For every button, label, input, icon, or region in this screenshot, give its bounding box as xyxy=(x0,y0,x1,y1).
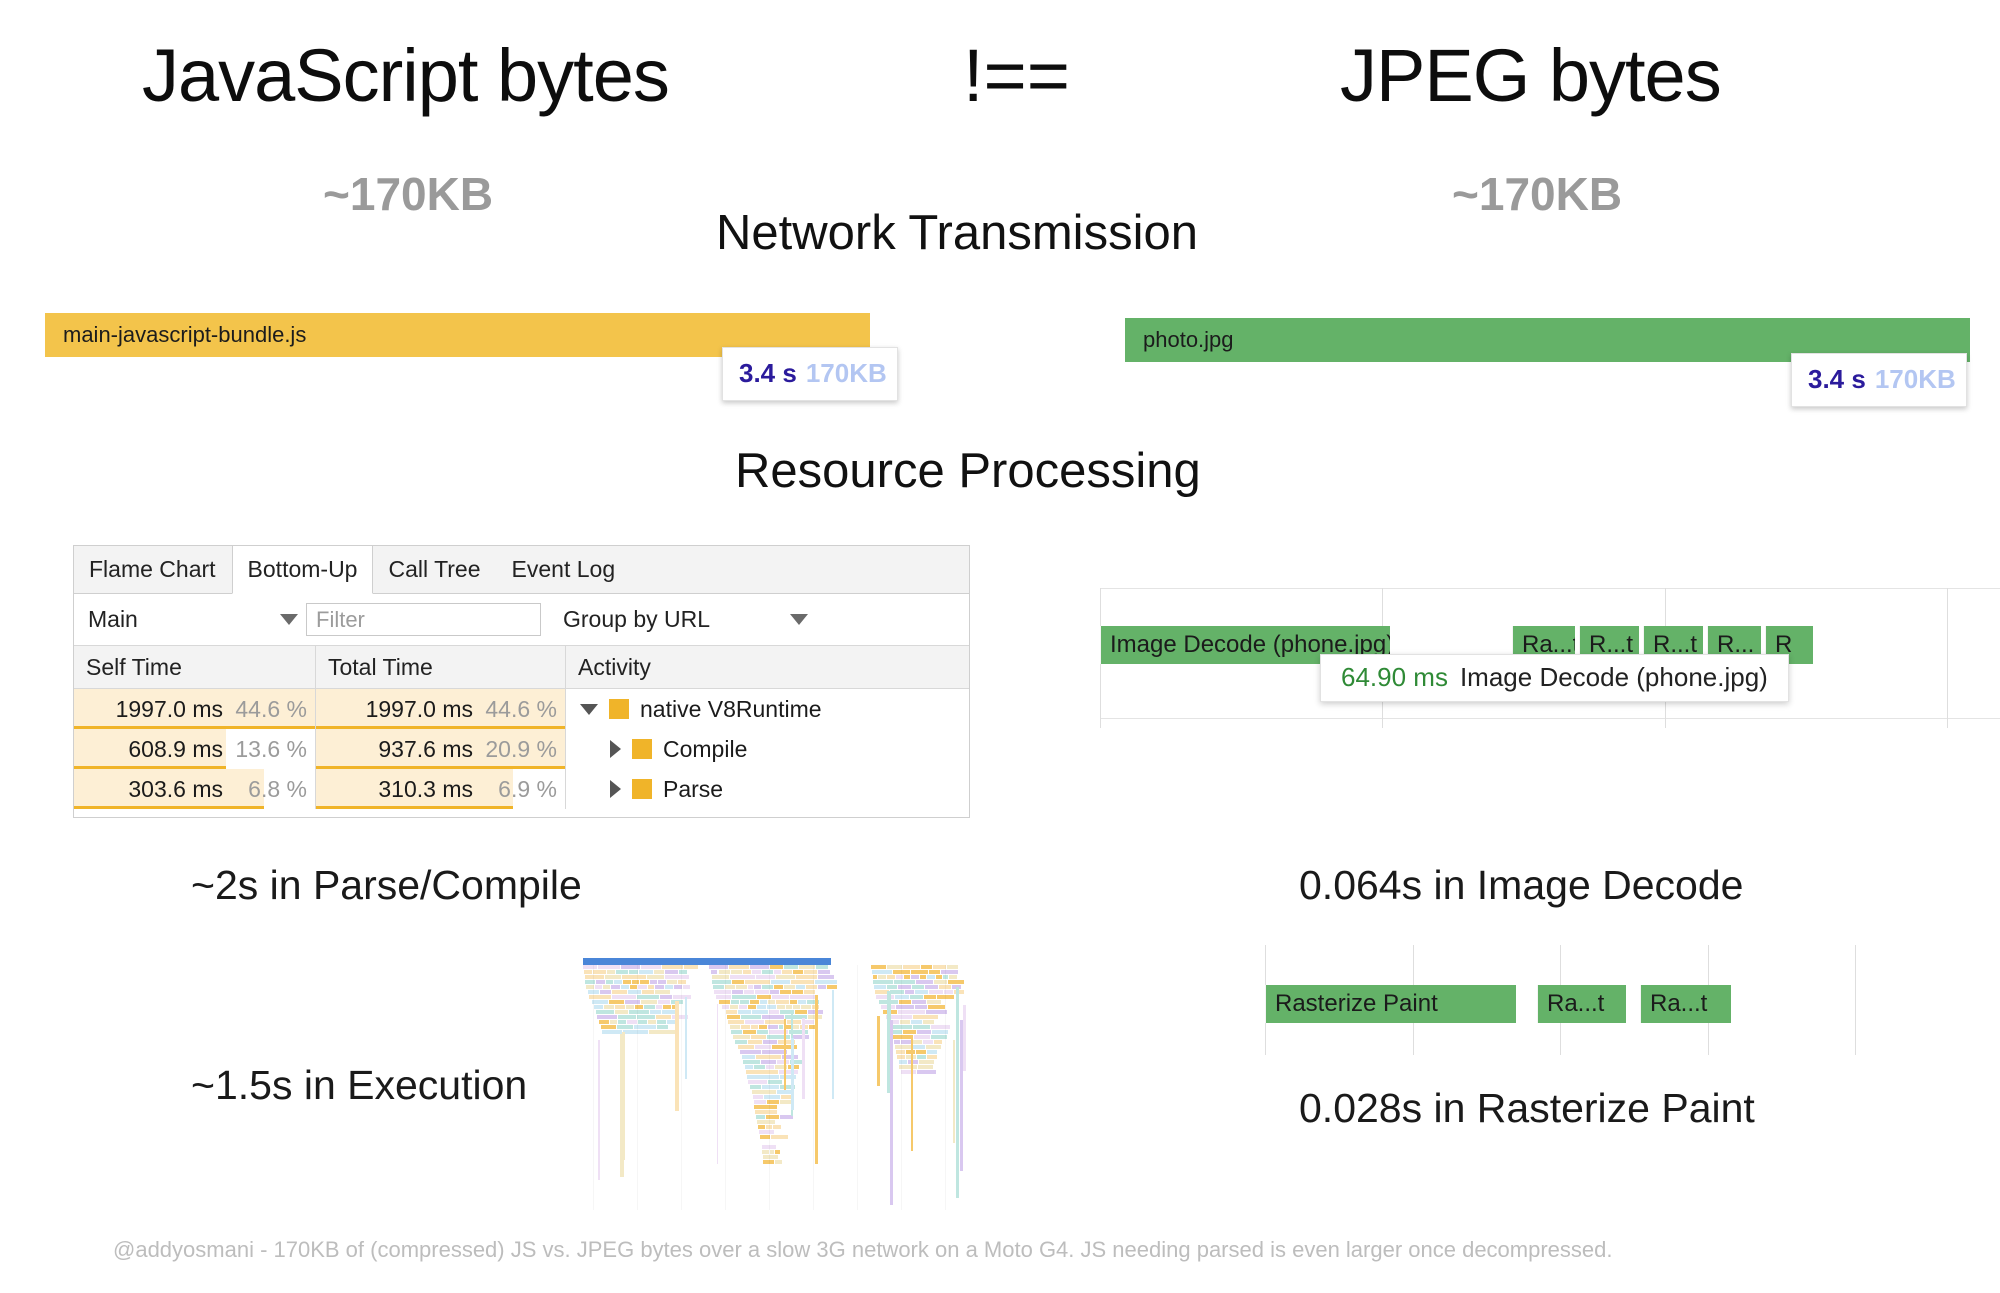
flame-chart-frame xyxy=(637,1015,655,1019)
group-by-select[interactable]: Group by URL xyxy=(563,606,808,633)
flame-chart-frame xyxy=(656,1015,671,1019)
flame-chart-frame xyxy=(735,1040,746,1044)
flame-chart-frame xyxy=(784,965,798,969)
flame-chart-frame xyxy=(616,970,628,974)
flame-chart-frame xyxy=(898,1010,925,1014)
flame-chart-frame xyxy=(748,1040,762,1044)
flame-chart-frame xyxy=(755,1110,776,1114)
flame-chart-frame xyxy=(728,1020,744,1024)
flame-chart-frame xyxy=(716,995,731,999)
chevron-right-icon[interactable] xyxy=(610,780,621,798)
flame-chart-frame xyxy=(795,1010,807,1014)
flame-chart-frame xyxy=(784,985,795,989)
flame-chart-frame xyxy=(903,965,920,969)
activity-color-swatch xyxy=(632,779,652,799)
network-bar-jpeg-filename: photo.jpg xyxy=(1143,327,1234,353)
flame-chart-frame xyxy=(773,1125,781,1129)
cell-percent-value: 13.6 % xyxy=(233,736,307,763)
flame-chart-frame xyxy=(614,980,622,984)
flame-chart-frame xyxy=(743,1030,756,1034)
column-header-total-time[interactable]: Total Time xyxy=(316,646,566,688)
flame-chart-frame xyxy=(731,1030,741,1034)
cell-activity: Compile xyxy=(566,729,969,769)
flame-chart-frame xyxy=(890,990,904,994)
flame-chart-frame xyxy=(927,1000,940,1004)
flame-chart-frame xyxy=(904,975,910,979)
flame-chart-frame xyxy=(754,1100,767,1104)
flame-chart-frame xyxy=(604,1005,614,1009)
tooltip-size-value: 170KB xyxy=(1875,364,1956,395)
flame-chart-frame xyxy=(725,985,735,989)
cell-self-time: 608.9 ms13.6 % xyxy=(74,729,316,769)
cell-total-time: 310.3 ms6.9 % xyxy=(316,769,566,809)
flame-chart-frame xyxy=(762,1085,778,1089)
flame-chart-frame xyxy=(629,1010,649,1014)
column-header-activity[interactable]: Activity xyxy=(566,646,969,688)
flame-chart-frame xyxy=(637,965,638,1210)
flame-chart-frame xyxy=(606,980,614,984)
flame-chart-frame xyxy=(917,1055,926,1059)
flame-chart-frame xyxy=(925,985,937,989)
flame-chart-frame xyxy=(813,965,814,1210)
flame-chart-frame xyxy=(899,1060,907,1064)
flame-chart-frame xyxy=(776,1000,789,1004)
tooltip-time-value: 3.4 s xyxy=(739,358,797,389)
flame-chart-frame xyxy=(926,1010,946,1014)
flame-chart-frame xyxy=(611,985,621,989)
flame-chart-frame xyxy=(754,985,760,989)
flame-chart-frame xyxy=(752,970,762,974)
flame-chart-frame xyxy=(901,965,902,1210)
flame-chart-frame xyxy=(796,985,805,989)
flame-chart-frame xyxy=(649,1030,675,1034)
flame-chart-frame xyxy=(762,1150,768,1154)
activity-color-swatch xyxy=(609,699,629,719)
cell-activity: Parse xyxy=(566,769,969,809)
flame-chart-frame xyxy=(665,975,689,979)
flame-chart-frame xyxy=(650,980,657,984)
flame-chart-frame xyxy=(647,975,664,979)
flame-chart-frame xyxy=(650,1010,661,1014)
flame-chart-frame xyxy=(771,980,791,984)
footer-attribution-note: @addyosmani - 170KB of (compressed) JS v… xyxy=(113,1237,1613,1263)
timeline-block[interactable]: Rasterize Paint xyxy=(1265,985,1516,1023)
flame-chart-frame xyxy=(917,1070,936,1074)
flame-chart-frame xyxy=(745,1020,763,1024)
flame-chart-frame xyxy=(759,1025,767,1029)
flame-chart-frame xyxy=(711,970,718,974)
scope-select-value: Main xyxy=(88,606,138,633)
tab-event-log[interactable]: Event Log xyxy=(497,546,632,593)
flame-chart-frame xyxy=(743,970,750,974)
flame-chart-frame xyxy=(757,1005,765,1009)
flame-chart-frame xyxy=(818,985,826,989)
timeline-block[interactable]: Ra...t xyxy=(1640,985,1731,1023)
flame-chart-frame xyxy=(924,995,936,999)
flame-chart-frame xyxy=(771,1135,788,1139)
flame-chart-frame xyxy=(663,1005,671,1009)
tab-label: Flame Chart xyxy=(89,556,216,583)
flame-chart-frame xyxy=(802,1018,804,1099)
flame-chart-frame xyxy=(593,965,594,1210)
flame-chart-frame xyxy=(753,1095,763,1099)
flame-chart-frame xyxy=(627,1020,637,1024)
flame-chart-frame xyxy=(926,1045,941,1049)
cell-percent-value: 20.9 % xyxy=(483,736,557,763)
flame-chart-frame xyxy=(815,980,838,984)
flame-chart-frame xyxy=(662,1010,676,1014)
activity-label: native V8Runtime xyxy=(640,696,822,723)
flame-chart-frame xyxy=(741,1025,750,1029)
flame-chart-frame xyxy=(644,1005,655,1009)
flame-chart-frame xyxy=(766,1115,779,1119)
devtools-toolbar: Main Filter Group by URL xyxy=(74,594,969,646)
table-row[interactable]: 608.9 ms13.6 %937.6 ms20.9 %Compile xyxy=(74,729,969,769)
flame-chart-frame xyxy=(609,1000,625,1004)
flame-chart-frame xyxy=(617,1025,633,1029)
flame-chart-frame xyxy=(623,980,631,984)
flame-chart-frame xyxy=(733,1035,750,1039)
chevron-down-icon xyxy=(790,614,808,625)
filter-input[interactable]: Filter xyxy=(306,603,541,636)
flame-chart-frame xyxy=(895,1045,911,1049)
flame-chart-frame xyxy=(936,975,942,979)
tab-bottom-up[interactable]: Bottom-Up xyxy=(232,546,374,594)
flame-chart-frame xyxy=(756,1115,765,1119)
flame-chart-frame xyxy=(757,1120,775,1124)
flame-chart-frame xyxy=(615,1010,628,1014)
flame-chart-frame xyxy=(757,1030,768,1034)
flame-chart-frame xyxy=(732,990,743,994)
tab-flame-chart[interactable]: Flame Chart xyxy=(74,546,232,593)
flame-chart-frame xyxy=(585,975,604,979)
flame-chart-frame xyxy=(927,975,935,979)
flame-chart-canvas xyxy=(583,958,975,1210)
flame-chart-frame xyxy=(827,985,837,989)
cell-duration-value: 1997.0 ms xyxy=(116,696,223,723)
flame-chart-frame xyxy=(657,1020,666,1024)
flame-chart-frame xyxy=(911,975,919,979)
flame-chart-frame xyxy=(923,1020,933,1024)
flame-chart-frame xyxy=(786,1005,792,1009)
cell-percent-value: 6.9 % xyxy=(483,776,557,803)
flame-chart-frame xyxy=(745,1065,753,1069)
flame-chart-frame xyxy=(739,1005,747,1009)
flame-chart-frame xyxy=(642,990,655,994)
flame-chart-frame xyxy=(887,975,895,979)
flame-chart-frame xyxy=(583,958,831,965)
flame-chart-frame xyxy=(592,1000,607,1004)
flame-chart-frame xyxy=(910,995,923,999)
flame-chart-frame xyxy=(912,985,924,989)
flame-chart-frame xyxy=(603,985,609,989)
column-header-self-time[interactable]: Self Time xyxy=(74,646,316,688)
flame-chart-frame xyxy=(660,995,672,999)
flame-chart-frame xyxy=(876,995,894,999)
flame-chart-frame xyxy=(730,975,755,979)
flame-chart-frame xyxy=(746,1070,778,1074)
flame-chart-frame xyxy=(621,985,628,989)
flame-chart-frame xyxy=(685,997,687,1079)
section-title-resource-processing: Resource Processing xyxy=(735,443,1201,499)
flame-chart-frame xyxy=(903,1030,916,1034)
network-tooltip-javascript: 3.4 s 170KB xyxy=(722,347,898,401)
flame-chart-frame xyxy=(595,985,602,989)
flame-chart-frame xyxy=(725,965,726,1210)
flame-chart-frame xyxy=(738,1045,754,1049)
flame-chart-frame xyxy=(599,1020,609,1024)
timeline-rasterize-paint: Rasterize PaintRa...tRa...t xyxy=(1265,945,2000,1055)
activity-color-swatch xyxy=(632,739,652,759)
js-size-label: ~170KB xyxy=(323,167,493,221)
flame-chart-frame xyxy=(683,985,691,989)
flame-chart-frame xyxy=(714,990,731,994)
tooltip-size-value: 170KB xyxy=(806,358,887,389)
flame-chart-frame xyxy=(615,1005,626,1009)
flame-chart-frame xyxy=(779,1025,784,1029)
flame-chart-frame xyxy=(623,1030,648,1034)
flame-chart-frame xyxy=(857,965,858,1210)
annotation-rasterize-paint: 0.028s in Rasterize Paint xyxy=(1299,1085,1755,1132)
cell-self-time: 1997.0 ms44.6 % xyxy=(74,689,316,729)
tooltip-activity-name: Image Decode (phone.jpg) xyxy=(1460,662,1768,693)
flame-chart-frame xyxy=(727,1015,740,1019)
tooltip-time-value: 3.4 s xyxy=(1808,364,1866,395)
flame-chart-frame xyxy=(593,970,606,974)
tab-call-tree[interactable]: Call Tree xyxy=(373,546,496,593)
flame-chart-frame xyxy=(745,980,770,984)
flame-chart-thumbnail[interactable] xyxy=(583,958,975,1210)
timeline-image-decode: Image Decode (phone.jpg)Ra...tR...tR...t… xyxy=(1100,588,2000,728)
flame-chart-frame xyxy=(763,1155,778,1159)
cell-duration-value: 608.9 ms xyxy=(128,736,223,763)
flame-chart-frame xyxy=(684,965,699,969)
flame-chart-frame xyxy=(738,1010,751,1014)
flame-chart-frame xyxy=(770,965,783,969)
flame-chart-frame xyxy=(641,965,662,969)
flame-chart-frame xyxy=(791,980,813,984)
tooltip-duration: 64.90 ms xyxy=(1341,662,1448,693)
flame-chart-frame xyxy=(673,995,691,999)
flame-chart-frame xyxy=(618,1020,626,1024)
flame-chart-frame xyxy=(887,985,897,989)
flame-chart-frame xyxy=(732,995,756,999)
annotation-image-decode: 0.064s in Image Decode xyxy=(1299,862,1743,909)
flame-chart-frame xyxy=(890,1020,893,1205)
flame-chart-frame xyxy=(732,980,745,984)
flame-chart-frame xyxy=(748,1080,767,1084)
flame-chart-frame xyxy=(736,985,747,989)
cell-percent-value: 44.6 % xyxy=(233,696,307,723)
flame-chart-frame xyxy=(762,1015,784,1019)
flame-chart-frame xyxy=(801,1005,811,1009)
flame-chart-frame xyxy=(894,1040,900,1044)
tab-label: Bottom-Up xyxy=(248,556,358,583)
flame-chart-frame xyxy=(762,985,774,989)
flame-chart-frame xyxy=(744,990,754,994)
flame-chart-frame xyxy=(905,990,914,994)
flame-chart-frame xyxy=(712,980,731,984)
flame-chart-frame xyxy=(877,1016,879,1085)
flame-chart-frame xyxy=(878,975,885,979)
flame-chart-frame xyxy=(602,1030,621,1034)
timeline-block[interactable]: Ra...t xyxy=(1537,985,1626,1023)
flame-chart-frame xyxy=(960,1020,963,1171)
flame-chart-frame xyxy=(832,990,834,1099)
flame-chart-frame xyxy=(787,1020,801,1024)
flame-chart-frame xyxy=(758,1125,764,1129)
activity-label: Parse xyxy=(663,776,723,803)
flame-chart-frame xyxy=(679,970,687,974)
flame-chart-frame xyxy=(618,1015,635,1019)
flame-chart-frame xyxy=(919,1060,934,1064)
annotation-js-parse-compile: ~2s in Parse/Compile xyxy=(191,862,582,909)
flame-chart-frame xyxy=(731,1000,739,1004)
flame-chart-frame xyxy=(751,1025,758,1029)
flame-chart-frame xyxy=(792,990,802,994)
flame-chart-frame xyxy=(769,1010,778,1014)
flame-chart-frame xyxy=(768,1080,782,1084)
flame-chart-frame xyxy=(726,1010,738,1014)
flame-chart-frame xyxy=(793,1005,800,1009)
jpeg-size-label: ~170KB xyxy=(1452,167,1622,221)
flame-chart-frame xyxy=(610,1020,616,1024)
cell-duration-value: 937.6 ms xyxy=(378,736,473,763)
table-row[interactable]: 1997.0 ms44.6 %1997.0 ms44.6 %native V8R… xyxy=(74,689,969,729)
flame-chart-frame xyxy=(947,965,958,969)
flame-chart-frame xyxy=(912,1045,925,1049)
devtools-tab-bar: Flame Chart Bottom-Up Call Tree Event Lo… xyxy=(74,546,969,594)
flame-chart-frame xyxy=(762,970,773,974)
flame-chart-frame xyxy=(747,1075,778,1079)
flame-chart-frame xyxy=(956,987,959,1198)
flame-chart-frame xyxy=(775,1160,782,1164)
table-row[interactable]: 303.6 ms6.8 %310.3 ms6.9 %Parse xyxy=(74,769,969,809)
flame-chart-frame xyxy=(638,1020,647,1024)
flame-chart-frame xyxy=(750,1000,759,1004)
flame-chart-frame xyxy=(612,995,636,999)
chevron-down-icon[interactable] xyxy=(580,704,598,715)
flame-chart-frame xyxy=(742,1055,755,1059)
flame-chart-frame xyxy=(941,970,958,974)
chevron-right-icon[interactable] xyxy=(610,740,621,758)
tab-label: Event Log xyxy=(512,556,616,583)
flame-chart-frame xyxy=(607,970,615,974)
flame-chart-frame xyxy=(730,1005,738,1009)
devtools-performance-panel: Flame Chart Bottom-Up Call Tree Event Lo… xyxy=(73,545,970,818)
network-tooltip-jpeg: 3.4 s 170KB xyxy=(1791,353,1967,407)
flame-chart-frame xyxy=(657,1025,669,1029)
flame-chart-frame xyxy=(598,1040,600,1180)
flame-chart-frame xyxy=(748,1005,756,1009)
cell-self-time: 303.6 ms6.8 % xyxy=(74,769,316,809)
flame-chart-frame xyxy=(929,970,940,974)
flame-chart-frame xyxy=(654,970,664,974)
cell-total-time: 1997.0 ms44.6 % xyxy=(316,689,566,729)
flame-chart-frame xyxy=(804,970,817,974)
flame-chart-frame xyxy=(896,1005,914,1009)
flame-chart-frame xyxy=(750,965,769,969)
cell-duration-value: 310.3 ms xyxy=(378,776,473,803)
flame-chart-frame xyxy=(793,970,802,974)
flame-chart-frame xyxy=(784,1019,787,1090)
flame-chart-frame xyxy=(635,1005,643,1009)
flame-chart-frame xyxy=(750,1085,761,1089)
flame-chart-frame xyxy=(953,1040,955,1143)
flame-chart-frame xyxy=(913,1015,938,1019)
flame-chart-frame xyxy=(640,980,649,984)
section-title-network-transmission: Network Transmission xyxy=(716,205,1198,261)
flame-chart-frame xyxy=(620,1034,624,1176)
flame-chart-frame xyxy=(648,985,655,989)
flame-chart-frame xyxy=(712,975,730,979)
flame-chart-frame xyxy=(790,1000,798,1004)
flame-chart-frame xyxy=(934,1040,942,1044)
flame-chart-frame xyxy=(945,965,946,1210)
flame-chart-frame xyxy=(777,1005,784,1009)
flame-chart-frame xyxy=(731,970,742,974)
flame-chart-frame xyxy=(873,975,878,979)
flame-chart-frame xyxy=(626,1005,634,1009)
flame-chart-frame xyxy=(755,990,769,994)
flame-chart-frame xyxy=(622,975,646,979)
annotation-js-execution: ~1.5s in Execution xyxy=(191,1062,527,1109)
flame-chart-frame xyxy=(806,985,816,989)
flame-chart-frame xyxy=(760,1000,767,1004)
network-bar-javascript-filename: main-javascript-bundle.js xyxy=(63,322,306,348)
flame-chart-frame xyxy=(818,975,834,979)
flame-chart-frame xyxy=(754,1065,765,1069)
flame-chart-frame xyxy=(963,1005,967,1071)
flame-chart-frame xyxy=(916,980,933,984)
flame-chart-frame xyxy=(874,985,886,989)
timeline-tooltip-image-decode: 64.90 ms Image Decode (phone.jpg) xyxy=(1320,654,1789,702)
timeline-bottom-rule xyxy=(1100,718,2000,719)
flame-chart-frame xyxy=(759,1130,774,1134)
flame-chart-frame xyxy=(713,985,723,989)
cell-duration-value: 303.6 ms xyxy=(128,776,223,803)
heading-javascript-bytes: JavaScript bytes xyxy=(142,33,669,118)
flame-chart-frame xyxy=(752,1010,768,1014)
scope-select[interactable]: Main xyxy=(88,606,298,633)
flame-chart-frame xyxy=(730,1025,740,1029)
flame-chart-frame xyxy=(658,980,666,984)
flame-chart-frame xyxy=(911,1039,913,1151)
flame-chart-frame xyxy=(598,965,620,969)
flame-chart-frame xyxy=(901,1070,916,1074)
flame-chart-frame xyxy=(833,958,836,965)
flame-chart-frame xyxy=(873,980,893,984)
flame-chart-frame xyxy=(933,965,946,969)
flame-chart-frame xyxy=(740,1000,749,1004)
flame-chart-frame xyxy=(920,975,926,979)
flame-chart-frame xyxy=(770,990,780,994)
flame-chart-frame xyxy=(780,990,791,994)
group-by-select-value: Group by URL xyxy=(563,606,710,633)
flame-chart-frame xyxy=(662,965,682,969)
flame-chart-frame xyxy=(583,965,597,969)
flame-chart-frame xyxy=(658,1000,670,1004)
flame-chart-frame xyxy=(871,965,886,969)
flame-chart-frame xyxy=(775,1150,780,1154)
timeline-gridline xyxy=(1855,945,1856,1055)
flame-chart-frame xyxy=(752,1090,776,1094)
table-header-row: Self Time Total Time Activity xyxy=(74,646,969,689)
flame-chart-frame xyxy=(655,985,663,989)
flame-chart-frame xyxy=(639,970,653,974)
flame-chart-frame xyxy=(914,1035,930,1039)
flame-chart-frame xyxy=(928,1005,945,1009)
